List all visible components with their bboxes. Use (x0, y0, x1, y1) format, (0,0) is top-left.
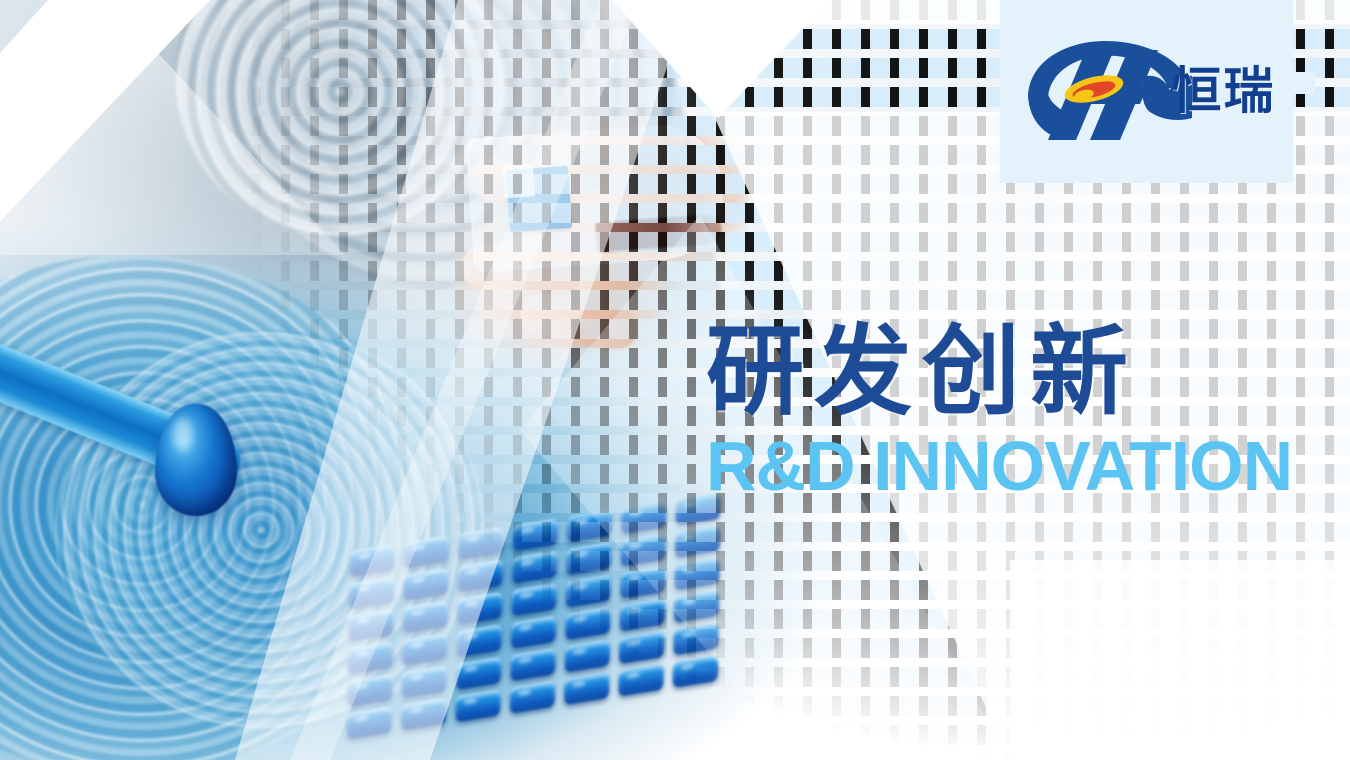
headline-block: 研发创新 R&D INNOVATION (706, 322, 1306, 501)
page-subtitle-english: R&D INNOVATION (706, 431, 1306, 501)
logo-company-name: 恒瑞 (1172, 66, 1276, 116)
hengrui-swoosh-mark-icon (1018, 32, 1198, 152)
rd-innovation-banner: 恒瑞 研发创新 R&D INNOVATION (0, 0, 1350, 760)
company-logo-box[interactable]: 恒瑞 (1000, 0, 1293, 183)
page-title-chinese: 研发创新 (706, 322, 1306, 423)
logo-inner: 恒瑞 (1018, 32, 1276, 152)
